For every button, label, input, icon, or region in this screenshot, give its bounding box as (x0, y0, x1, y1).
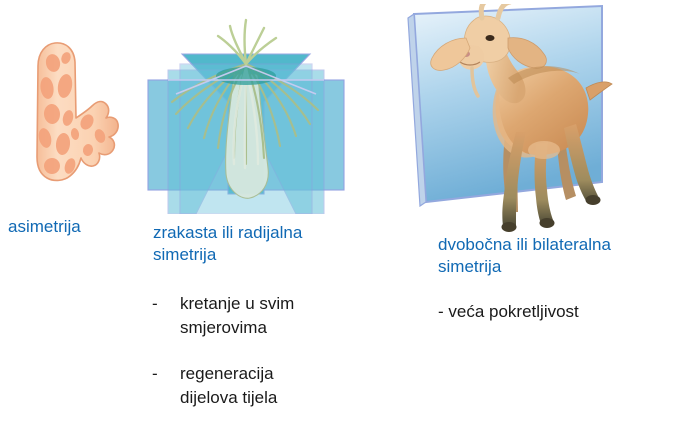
sponge-illustration (18, 26, 128, 206)
heading-radial-symmetry: zrakasta ili radijalna simetrija (153, 222, 383, 266)
heading-bilateral-symmetry: dvobočna ili bilateralna simetrija (438, 234, 700, 278)
bullet-marker: - (152, 292, 180, 340)
goat-eye (486, 35, 495, 41)
bullet-marker: - (152, 362, 180, 410)
bullet-radial-2: - regeneracija dijelova tijela (152, 362, 382, 410)
bullet-bilateral-1: - veća pokretljivost (438, 300, 579, 324)
heading-asymmetry: asimetrija (8, 216, 138, 238)
bullet-text: kretanje u svim smjerovima (180, 292, 294, 340)
bullet-radial-1: - kretanje u svim smjerovima (152, 292, 382, 340)
goat-with-sagittal-plane (404, 4, 616, 236)
bullet-text: regeneracija dijelova tijela (180, 362, 277, 410)
sea-anemone-with-radial-planes (146, 18, 346, 214)
anemone-oral-disc (216, 67, 276, 85)
